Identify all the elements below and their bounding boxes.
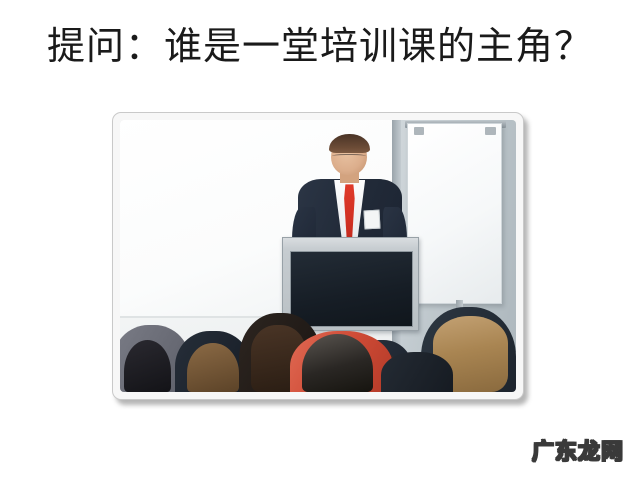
page-title: 提问：谁是一堂培训课的主角？	[0, 22, 640, 70]
watermark: 广东龙网	[532, 434, 624, 466]
photo-frame	[112, 112, 524, 400]
attendee-head	[187, 343, 238, 392]
photo-image	[120, 120, 516, 392]
glasses-icon	[332, 154, 366, 159]
slide-canvas: 提问：谁是一堂培训课的主角？	[0, 0, 640, 480]
flipchart-clip-right	[485, 127, 495, 135]
flipchart-clip-left	[414, 127, 424, 135]
attendee-body	[381, 352, 452, 392]
photo-scene	[120, 120, 516, 392]
presenter-name-badge	[364, 210, 381, 229]
audience-group	[120, 240, 516, 392]
presenter-hair	[329, 134, 370, 153]
